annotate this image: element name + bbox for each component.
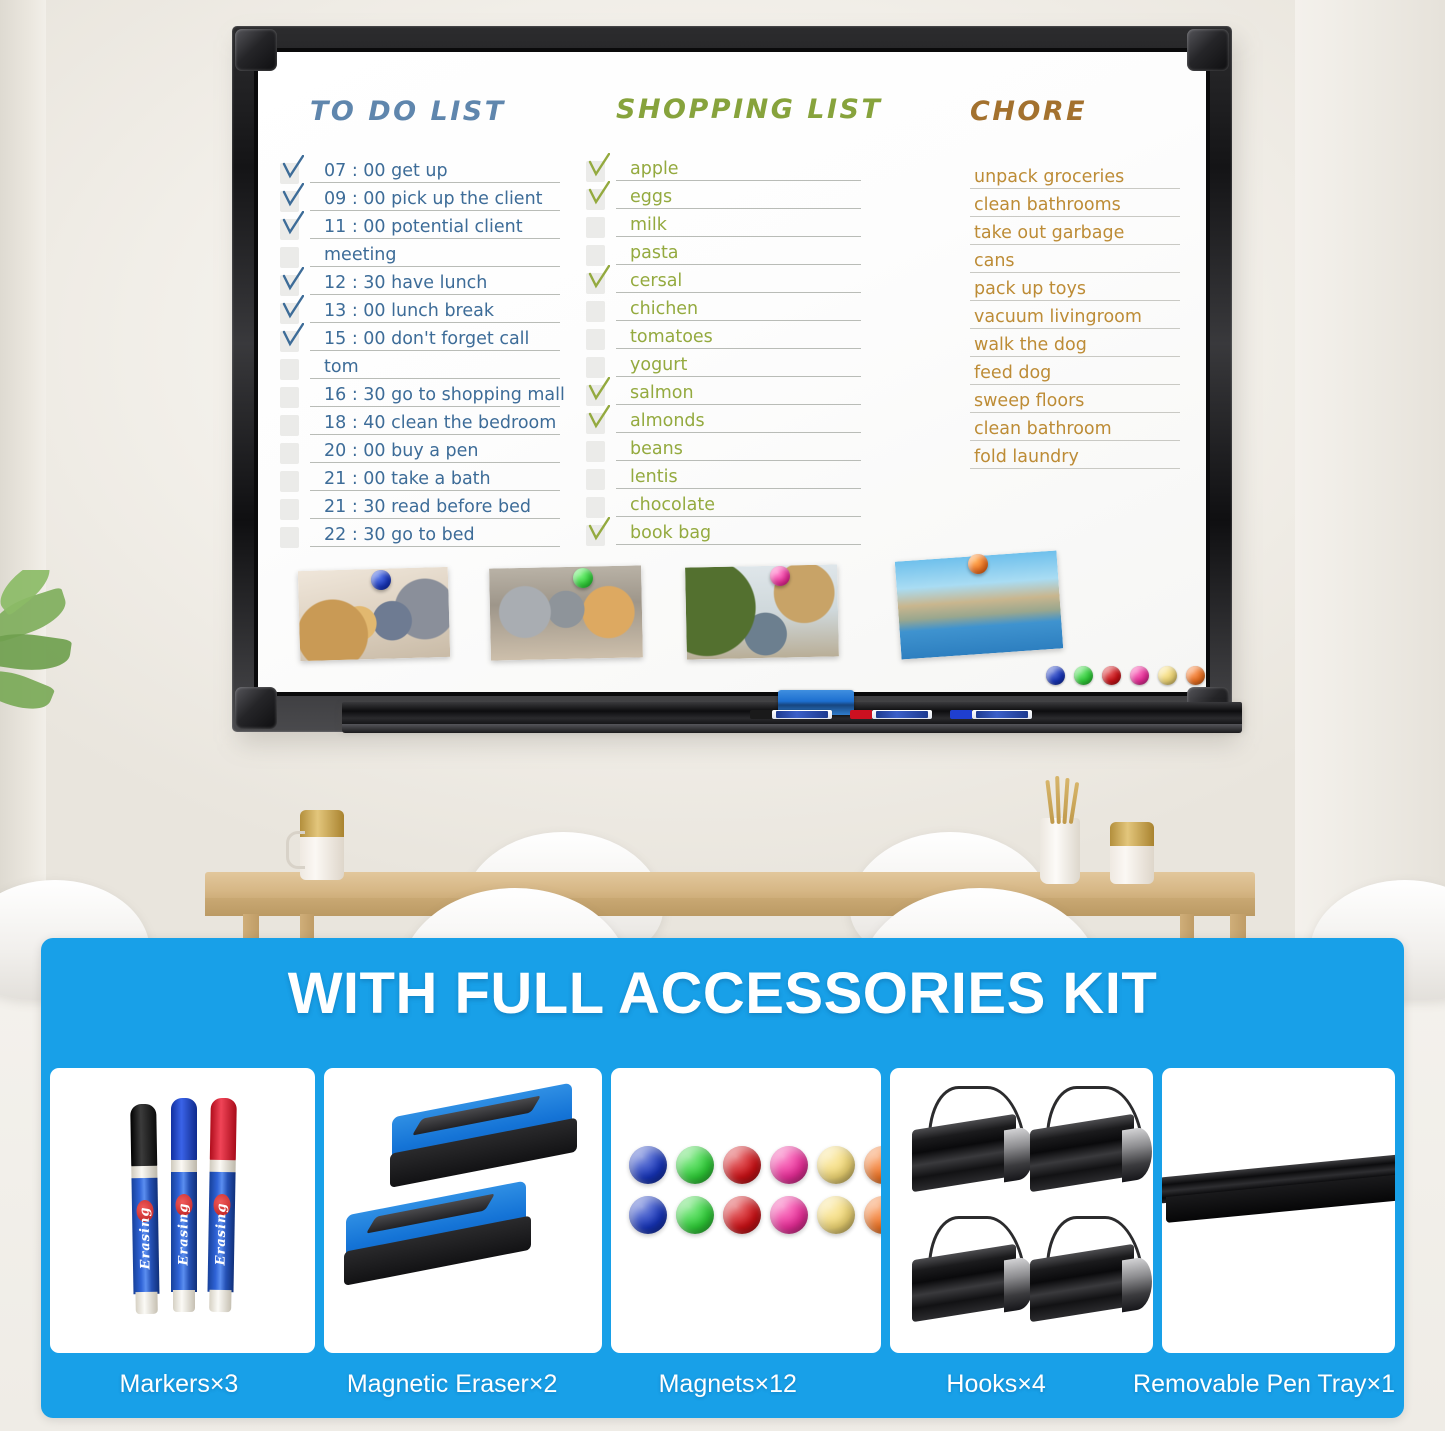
list-item-label: vacuum livingroom (974, 307, 1142, 327)
checkbox[interactable] (586, 357, 605, 378)
list-item[interactable]: 18 : 40 clean the bedroom (310, 409, 560, 437)
list-item-label: 16 : 30 go to shopping mall (324, 385, 565, 405)
checkbox[interactable] (586, 497, 605, 518)
rule-line (310, 490, 560, 491)
list-item[interactable]: yogurt (616, 351, 861, 379)
list-item-label: pack up toys (974, 279, 1086, 299)
list-item-label: fold laundry (974, 447, 1079, 467)
list-item-label: book bag (630, 523, 711, 543)
panel-hooks[interactable] (890, 1068, 1153, 1353)
list-item[interactable]: 21 : 00 take a bath (310, 465, 560, 493)
checkbox[interactable] (280, 499, 299, 520)
list-item-label: chichen (630, 299, 698, 319)
list-item[interactable]: unpack groceries (970, 163, 1180, 191)
rule-line (970, 440, 1180, 441)
list-item-label: beans (630, 439, 683, 459)
rule-line (310, 322, 560, 323)
list-item-label: 12 : 30 have lunch (324, 273, 487, 293)
checkbox[interactable] (586, 161, 605, 182)
list-item-label: 13 : 00 lunch break (324, 301, 494, 321)
rule-line (616, 348, 861, 349)
list-item-label: walk the dog (974, 335, 1087, 355)
list-item-label: clean bathrooms (974, 195, 1121, 215)
list-item-label: apple (630, 159, 679, 179)
wall-right-edge (1295, 0, 1445, 960)
rule-line (616, 544, 861, 545)
rule-line (310, 294, 560, 295)
list-item-label: almonds (630, 411, 705, 431)
kit-magnet (629, 1196, 667, 1234)
checkbox[interactable] (280, 247, 299, 268)
rule-line (616, 236, 861, 237)
rule-line (310, 462, 560, 463)
list-item-label: sweep floors (974, 391, 1084, 411)
checkbox[interactable] (586, 217, 605, 238)
list-item-label: yogurt (630, 355, 687, 375)
checkbox[interactable] (280, 359, 299, 380)
hook-4 (1030, 1216, 1150, 1320)
kit-magnet (676, 1146, 714, 1184)
rule-line (616, 376, 861, 377)
list-item-label: 11 : 00 potential client (324, 217, 523, 237)
checkbox[interactable] (280, 415, 299, 436)
hook-2 (1030, 1086, 1150, 1190)
list-item-label: feed dog (974, 363, 1051, 383)
tray-marker-black[interactable] (772, 710, 832, 719)
panel-magnetic-eraser[interactable] (324, 1068, 602, 1353)
board-magnet[interactable] (1130, 666, 1149, 685)
accessories-kit-banner: WITH FULL ACCESSORIES KIT Erasing Erasin… (41, 938, 1404, 1418)
list-item-label: 15 : 00 don't forget call (324, 329, 529, 349)
kit-panels: Erasing Erasing Erasing (50, 1068, 1395, 1353)
caption-magnets: Magnets×12 (596, 1362, 859, 1406)
kit-magnet (723, 1146, 761, 1184)
rule-line (310, 182, 560, 183)
list-item-label: tomatoes (630, 327, 713, 347)
kit-magnet (817, 1196, 855, 1234)
rule-line (310, 406, 560, 407)
marker-black: Erasing (130, 1104, 160, 1314)
rule-line (310, 518, 560, 519)
list-item[interactable]: pack up toys (970, 275, 1180, 303)
rule-line (616, 432, 861, 433)
pin-blue[interactable] (371, 570, 391, 590)
board-magnet[interactable] (1186, 666, 1205, 685)
thermos-left (300, 810, 344, 880)
checkbox[interactable] (586, 385, 605, 406)
checkbox[interactable] (280, 527, 299, 548)
panel-markers[interactable]: Erasing Erasing Erasing (50, 1068, 315, 1353)
list-item-label: 07 : 00 get up (324, 161, 448, 181)
list-item[interactable]: tomatoes (616, 323, 861, 351)
list-item-label: tom (324, 357, 359, 377)
list-item[interactable]: lentis (616, 463, 861, 491)
list-item-label: 20 : 00 buy a pen (324, 441, 479, 461)
list-item-label: take out garbage (974, 223, 1124, 243)
rule-line (310, 238, 560, 239)
list-item[interactable]: eggs (616, 183, 861, 211)
removable-pen-tray-art (1162, 1164, 1395, 1224)
thermos-right (1110, 822, 1154, 884)
kit-magnet (723, 1196, 761, 1234)
rule-line (616, 180, 861, 181)
potted-plant (0, 570, 110, 750)
list-item[interactable]: salmon (616, 379, 861, 407)
list-item[interactable]: fold laundry (970, 443, 1180, 471)
rule-line (616, 460, 861, 461)
list-item[interactable]: almonds (616, 407, 861, 435)
checkbox[interactable] (280, 219, 299, 240)
tray-marker-red[interactable] (872, 710, 932, 719)
kit-magnet (864, 1146, 881, 1184)
list-title-todo: TO DO LIST (310, 96, 560, 127)
rule-line (970, 328, 1180, 329)
rule-line (970, 216, 1180, 217)
kit-magnet (629, 1146, 667, 1184)
list-item[interactable]: clean bathroom (970, 415, 1180, 443)
rule-line (616, 404, 861, 405)
rule-line (970, 468, 1180, 469)
panel-magnets[interactable] (611, 1068, 881, 1353)
list-item-label: 21 : 00 take a bath (324, 469, 491, 489)
list-item[interactable]: 09 : 00 pick up the client (310, 185, 560, 213)
list-item[interactable]: clean bathrooms (970, 191, 1180, 219)
magnetic-eraser-bottom (346, 1181, 526, 1286)
list-item-label: 09 : 00 pick up the client (324, 189, 543, 209)
magnetic-whiteboard[interactable]: TO DO LIST 07 : 00 get up09 : 00 pick up… (232, 26, 1232, 732)
pin-pink[interactable] (770, 566, 790, 586)
checkbox[interactable] (280, 163, 299, 184)
list-item-label: pasta (630, 243, 679, 263)
kit-captions: Markers×3 Magnetic Eraser×2 Magnets×12 H… (50, 1362, 1395, 1406)
checkbox[interactable] (586, 273, 605, 294)
list-item[interactable]: 20 : 00 buy a pen (310, 437, 560, 465)
rule-line (616, 208, 861, 209)
checkbox[interactable] (280, 471, 299, 492)
checkbox[interactable] (586, 245, 605, 266)
list-item-label: lentis (630, 467, 678, 487)
pencil-holder (1040, 818, 1080, 884)
rule-line (310, 266, 560, 267)
list-item[interactable]: 15 : 00 don't forget call (310, 325, 560, 353)
list-item-label: meeting (324, 245, 397, 265)
board-writing-surface[interactable]: TO DO LIST 07 : 00 get up09 : 00 pick up… (258, 52, 1206, 692)
panel-removable-pen-tray[interactable] (1162, 1068, 1395, 1353)
list-title-chore: CHORE (970, 96, 1180, 127)
rule-line (616, 264, 861, 265)
rule-line (310, 350, 560, 351)
marker-blue: Erasing (171, 1098, 197, 1312)
pin-orange[interactable] (968, 554, 988, 574)
kit-magnet (817, 1146, 855, 1184)
rule-line (970, 356, 1180, 357)
photo-zoo-giraffe[interactable] (685, 564, 839, 659)
list-item[interactable]: meeting (310, 241, 560, 269)
rule-line (970, 412, 1180, 413)
caption-markers: Markers×3 (50, 1362, 308, 1406)
list-item-label: unpack groceries (974, 167, 1124, 187)
frame-corner-bottom-left (235, 687, 277, 729)
list-item-label: 21 : 30 read before bed (324, 497, 531, 517)
list-item[interactable]: chocolate (616, 491, 861, 519)
frame-corner-top-right (1187, 29, 1229, 71)
checkbox[interactable] (586, 525, 605, 546)
checkbox[interactable] (280, 275, 299, 296)
kit-magnet (864, 1196, 881, 1234)
rule-line (970, 272, 1180, 273)
checkbox[interactable] (586, 329, 605, 350)
list-item[interactable]: 21 : 30 read before bed (310, 493, 560, 521)
rule-line (310, 378, 560, 379)
list-chore: CHORE unpack groceriesclean bathroomstak… (970, 96, 1180, 471)
list-item[interactable]: 22 : 30 go to bed (310, 521, 560, 549)
list-shopping: SHOPPING LIST appleeggsmilkpastacersalch… (616, 94, 861, 547)
kit-magnet (676, 1196, 714, 1234)
board-magnet[interactable] (1074, 666, 1093, 685)
list-item-label: cersal (630, 271, 682, 291)
list-item[interactable]: book bag (616, 519, 861, 547)
rule-line (310, 546, 560, 547)
photo-three-kittens[interactable] (489, 565, 643, 660)
frame-corner-top-left (235, 29, 277, 71)
magnetic-eraser-top (392, 1083, 572, 1188)
magnet-grid (629, 1146, 881, 1234)
hook-3 (912, 1216, 1032, 1320)
list-item[interactable]: milk (616, 211, 861, 239)
list-item[interactable]: chichen (616, 295, 861, 323)
list-item-label: 22 : 30 go to bed (324, 525, 475, 545)
checkbox[interactable] (280, 443, 299, 464)
list-item[interactable]: 12 : 30 have lunch (310, 269, 560, 297)
board-magnet-strip[interactable] (1046, 666, 1205, 685)
kit-magnet (770, 1196, 808, 1234)
list-item-label: 18 : 40 clean the bedroom (324, 413, 556, 433)
checkbox[interactable] (586, 189, 605, 210)
list-item[interactable]: cersal (616, 267, 861, 295)
list-item[interactable]: 13 : 00 lunch break (310, 297, 560, 325)
rule-line (310, 434, 560, 435)
checkbox[interactable] (280, 303, 299, 324)
list-item[interactable]: 07 : 00 get up (310, 157, 560, 185)
checkbox[interactable] (586, 441, 605, 462)
dining-table-edge (205, 898, 1255, 916)
checkbox[interactable] (586, 301, 605, 322)
rule-line (616, 488, 861, 489)
kit-magnet (770, 1146, 808, 1184)
wall-left-edge (0, 0, 46, 960)
list-item[interactable]: apple (616, 155, 861, 183)
checkbox[interactable] (280, 191, 299, 212)
rule-line (310, 210, 560, 211)
list-item[interactable]: pasta (616, 239, 861, 267)
list-todo: TO DO LIST 07 : 00 get up09 : 00 pick up… (310, 96, 560, 549)
list-title-shopping: SHOPPING LIST (616, 94, 861, 125)
marker-red: Erasing (207, 1098, 237, 1312)
list-item[interactable]: take out garbage (970, 219, 1180, 247)
checkbox[interactable] (280, 387, 299, 408)
tray-marker-blue[interactable] (972, 710, 1032, 719)
list-item[interactable]: 16 : 30 go to shopping mall (310, 381, 560, 409)
list-item-label: salmon (630, 383, 694, 403)
list-item[interactable]: sweep floors (970, 387, 1180, 415)
list-item[interactable]: cans (970, 247, 1180, 275)
board-magnet[interactable] (1102, 666, 1121, 685)
board-pen-tray-lip (342, 724, 1242, 733)
list-item[interactable]: tom (310, 353, 560, 381)
caption-hooks: Hooks×4 (868, 1362, 1124, 1406)
list-item-label: eggs (630, 187, 672, 207)
list-item-label: clean bathroom (974, 419, 1112, 439)
pin-green[interactable] (573, 568, 593, 588)
board-magnet[interactable] (1158, 666, 1177, 685)
rule-line (970, 300, 1180, 301)
list-item[interactable]: 11 : 00 potential client (310, 213, 560, 241)
rule-line (616, 292, 861, 293)
rule-line (970, 384, 1180, 385)
caption-removable-pen-tray: Removable Pen Tray×1 (1133, 1362, 1395, 1406)
list-item-label: milk (630, 215, 667, 235)
rule-line (970, 188, 1180, 189)
hook-1 (912, 1086, 1032, 1190)
checkbox[interactable] (586, 413, 605, 434)
list-item[interactable]: walk the dog (970, 331, 1180, 359)
list-item[interactable]: vacuum livingroom (970, 303, 1180, 331)
list-item-label: cans (974, 251, 1015, 271)
rule-line (616, 320, 861, 321)
list-item[interactable]: feed dog (970, 359, 1180, 387)
list-item[interactable]: beans (616, 435, 861, 463)
list-item-label: chocolate (630, 495, 715, 515)
caption-magnetic-eraser: Magnetic Eraser×2 (317, 1362, 588, 1406)
checkbox[interactable] (586, 469, 605, 490)
checkbox[interactable] (280, 331, 299, 352)
board-magnet[interactable] (1046, 666, 1065, 685)
rule-line (970, 244, 1180, 245)
rule-line (616, 516, 861, 517)
kit-title: WITH FULL ACCESSORIES KIT (41, 960, 1404, 1027)
